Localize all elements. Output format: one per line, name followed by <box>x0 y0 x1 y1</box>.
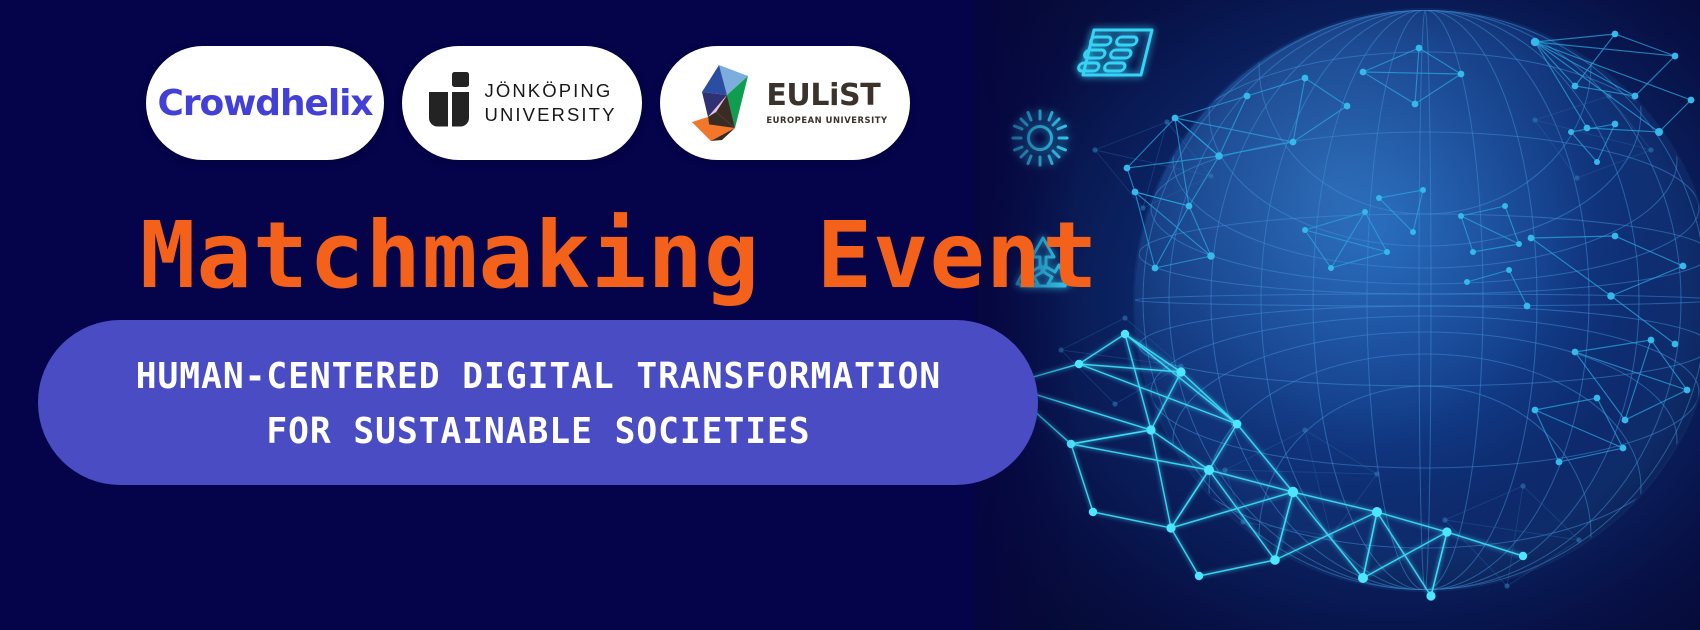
globe-sphere <box>1133 8 1700 592</box>
logo-eulist[interactable]: EULiST EUROPEAN UNIVERSITY <box>660 46 910 160</box>
subtitle-line-1: HUMAN-CENTERED DIGITAL TRANSFORMATION <box>135 350 940 405</box>
subtitle-banner: HUMAN-CENTERED DIGITAL TRANSFORMATION FO… <box>38 320 1038 485</box>
eulist-subtitle: EUROPEAN UNIVERSITY <box>766 115 887 125</box>
jonkoping-wordmark: JÖNKÖPING UNIVERSITY <box>484 79 616 127</box>
jonkoping-j-mark-icon <box>427 72 471 134</box>
solar-panel-icon <box>1078 30 1152 75</box>
partner-logo-row: Crowdhelix JÖNKÖPING UNIVERSITY <box>146 46 910 160</box>
logo-jonkoping-university[interactable]: JÖNKÖPING UNIVERSITY <box>402 46 642 160</box>
jonkoping-line1: JÖNKÖPING <box>484 79 616 103</box>
eulist-wordmark: EULiST <box>766 81 887 111</box>
sun-icon <box>1013 111 1067 165</box>
logo-crowdhelix[interactable]: Crowdhelix <box>146 46 384 160</box>
eulist-gem-icon <box>682 62 756 144</box>
artwork-panel <box>975 0 1700 630</box>
jonkoping-line2: UNIVERSITY <box>484 103 616 127</box>
page-title: Matchmaking Event <box>140 208 1099 305</box>
globe-network-graphic <box>975 0 1700 630</box>
subtitle-line-2: FOR SUSTAINABLE SOCIETIES <box>266 405 810 460</box>
crowdhelix-wordmark: Crowdhelix <box>158 83 373 124</box>
event-banner: Crowdhelix JÖNKÖPING UNIVERSITY <box>0 0 1700 630</box>
